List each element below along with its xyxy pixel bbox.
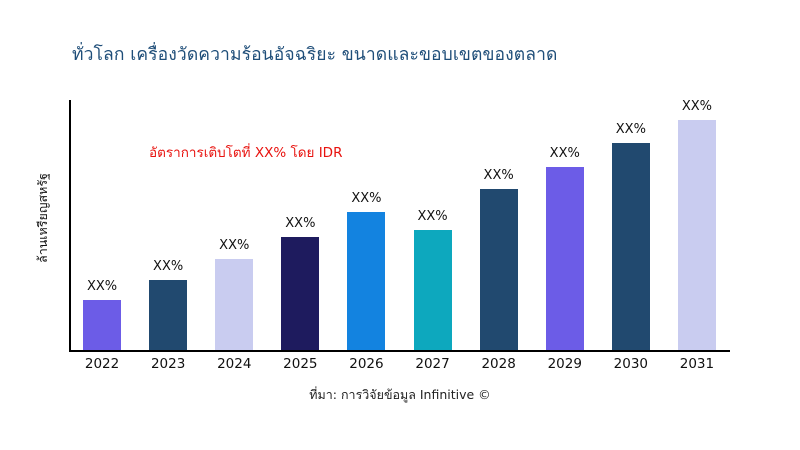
bar-group-2022[interactable]: XX%	[67, 100, 137, 350]
bar-value-label-2026: XX%	[351, 191, 381, 206]
bar-value-label-2027: XX%	[417, 209, 447, 224]
bar-2031[interactable]	[678, 120, 716, 350]
x-tick-label-2027: 2027	[398, 356, 468, 372]
x-tick-label-2030: 2030	[596, 356, 666, 372]
x-tick-label-2023: 2023	[133, 356, 203, 372]
bar-value-label-2022: XX%	[87, 279, 117, 294]
bar-2027[interactable]	[414, 230, 452, 350]
x-tick-label-2026: 2026	[331, 356, 401, 372]
bar-2025[interactable]	[281, 237, 319, 350]
bar-group-2025[interactable]: XX%	[265, 100, 335, 350]
plot-area: อัตราการเติบโตที่ XX% โดย IDR XX%XX%XX%X…	[69, 100, 730, 350]
x-axis-line	[69, 350, 730, 352]
bar-value-label-2029: XX%	[550, 146, 580, 161]
page-title: ทั่วโลก เครื่องวัดความร้อนอัจฉริยะ ขนาดแ…	[72, 40, 557, 68]
x-axis-tick-labels: 2022202320242025202620272028202920302031	[69, 356, 730, 380]
bar-2030[interactable]	[612, 143, 650, 350]
bar-value-label-2025: XX%	[285, 216, 315, 231]
x-tick-label-2024: 2024	[199, 356, 269, 372]
bar-group-2023[interactable]: XX%	[133, 100, 203, 350]
bar-group-2029[interactable]: XX%	[530, 100, 600, 350]
bar-2022[interactable]	[83, 300, 121, 350]
bar-2023[interactable]	[149, 280, 187, 350]
bar-value-label-2024: XX%	[219, 238, 249, 253]
bar-value-label-2031: XX%	[682, 99, 712, 114]
bar-2026[interactable]	[347, 212, 385, 350]
bar-2029[interactable]	[546, 167, 584, 350]
chart-page: ทั่วโลก เครื่องวัดความร้อนอัจฉริยะ ขนาดแ…	[0, 0, 800, 450]
x-tick-label-2029: 2029	[530, 356, 600, 372]
x-tick-label-2025: 2025	[265, 356, 335, 372]
bar-group-2024[interactable]: XX%	[199, 100, 269, 350]
source-note: ที่มา: การวิจัยข้อมูล Infinitive ©	[0, 385, 800, 405]
bar-group-2031[interactable]: XX%	[662, 100, 732, 350]
x-tick-label-2028: 2028	[464, 356, 534, 372]
bar-2028[interactable]	[480, 189, 518, 350]
bar-value-label-2023: XX%	[153, 259, 183, 274]
bar-group-2030[interactable]: XX%	[596, 100, 666, 350]
bar-group-2027[interactable]: XX%	[398, 100, 468, 350]
x-tick-label-2031: 2031	[662, 356, 732, 372]
bar-series: XX%XX%XX%XX%XX%XX%XX%XX%XX%XX%	[69, 100, 730, 350]
bar-group-2026[interactable]: XX%	[331, 100, 401, 350]
bar-value-label-2030: XX%	[616, 122, 646, 137]
bar-group-2028[interactable]: XX%	[464, 100, 534, 350]
y-axis-title: ล้านเหรียญสหรัฐ	[33, 128, 53, 308]
bar-value-label-2028: XX%	[484, 168, 514, 183]
bar-2024[interactable]	[215, 259, 253, 350]
x-tick-label-2022: 2022	[67, 356, 137, 372]
